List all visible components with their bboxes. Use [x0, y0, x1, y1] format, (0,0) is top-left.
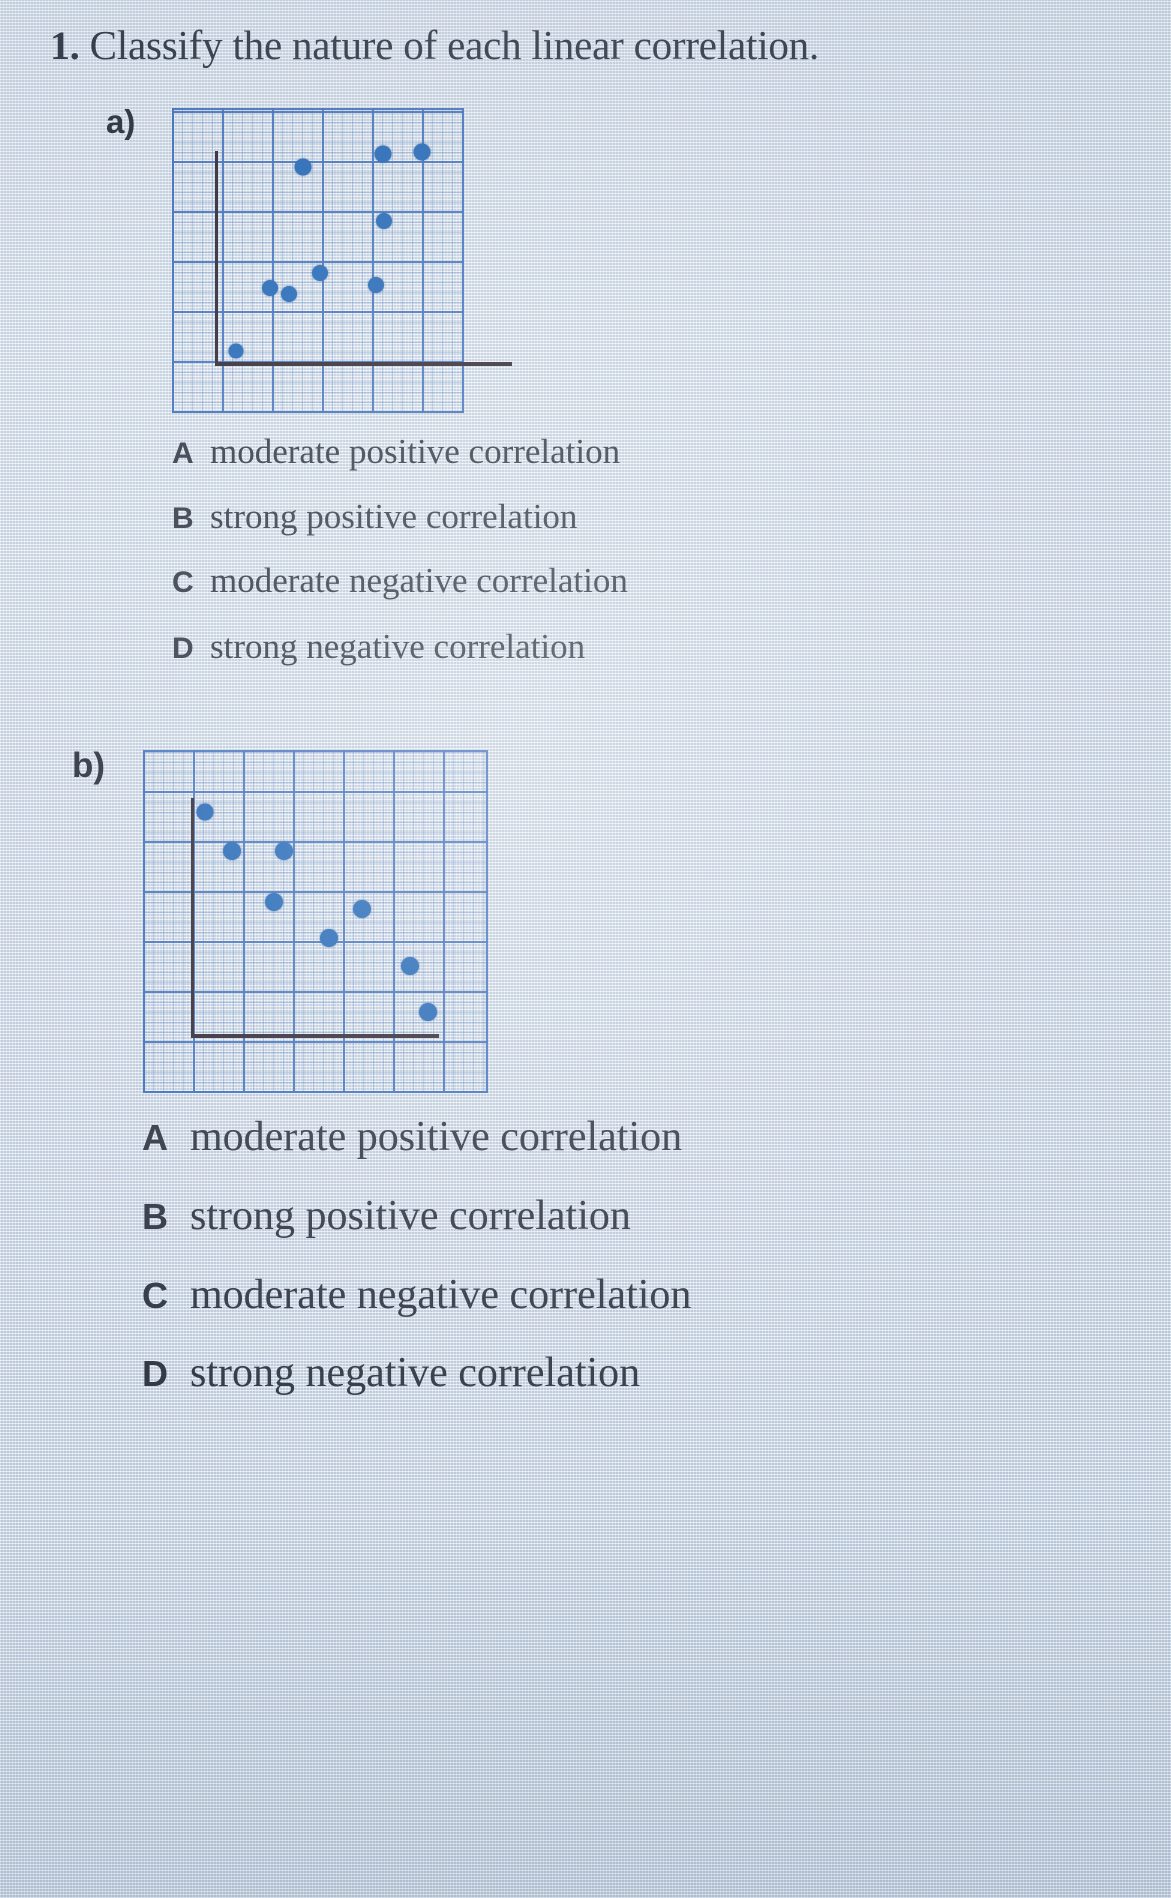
data-point	[368, 277, 384, 293]
data-point	[312, 265, 328, 281]
option-text: strong negative correlation	[190, 1349, 640, 1397]
plot-border-b	[143, 750, 488, 1093]
part-a-label: a)	[106, 103, 135, 141]
y-axis-a	[215, 151, 218, 364]
option-letter: A	[142, 1117, 190, 1159]
data-point	[223, 842, 241, 860]
data-point	[295, 159, 312, 176]
data-point	[229, 344, 244, 359]
question-number: 1.	[50, 23, 80, 68]
data-point	[320, 929, 338, 947]
option-row-a-A[interactable]: A moderate positive correlation	[172, 432, 620, 472]
option-row-b-A[interactable]: A moderate positive correlation	[142, 1113, 682, 1161]
option-text: strong positive correlation	[190, 1192, 631, 1240]
question-heading: 1.Classify the nature of each linear cor…	[50, 22, 1160, 69]
option-row-b-B[interactable]: B strong positive correlation	[142, 1192, 631, 1240]
part-b-label: b)	[72, 746, 105, 786]
option-text: moderate positive correlation	[210, 432, 620, 472]
scatter-plot-a	[172, 108, 464, 413]
option-letter: D	[142, 1353, 190, 1395]
y-axis-b	[191, 798, 194, 1036]
data-point	[376, 213, 392, 229]
data-point	[401, 957, 419, 975]
option-row-a-D[interactable]: D strong negative correlation	[172, 627, 585, 667]
option-letter: C	[142, 1275, 190, 1317]
option-row-b-C[interactable]: C moderate negative correlation	[142, 1271, 691, 1319]
data-point	[275, 842, 293, 860]
option-text: strong positive correlation	[210, 497, 577, 537]
option-text: moderate negative correlation	[210, 561, 628, 601]
data-point	[353, 900, 371, 918]
data-point	[197, 804, 214, 821]
option-letter: C	[172, 566, 210, 600]
option-letter: B	[172, 502, 210, 536]
data-point	[265, 893, 283, 911]
option-row-b-D[interactable]: D strong negative correlation	[142, 1349, 640, 1397]
data-point	[414, 144, 431, 161]
scatter-plot-b	[143, 750, 488, 1093]
x-axis-b	[191, 1034, 439, 1038]
option-letter: A	[172, 437, 210, 471]
data-point	[419, 1003, 437, 1021]
x-axis-a	[215, 362, 512, 366]
option-text: strong negative correlation	[210, 627, 585, 667]
option-letter: D	[172, 632, 210, 666]
option-text: moderate negative correlation	[190, 1271, 691, 1319]
option-row-a-C[interactable]: C moderate negative correlation	[172, 561, 628, 601]
option-row-a-B[interactable]: B strong positive correlation	[172, 497, 577, 537]
option-text: moderate positive correlation	[190, 1113, 682, 1161]
option-letter: B	[142, 1196, 190, 1238]
data-point	[375, 146, 392, 163]
question-prompt: Classify the nature of each linear corre…	[90, 22, 819, 68]
data-point	[262, 280, 278, 296]
data-point	[281, 286, 297, 302]
